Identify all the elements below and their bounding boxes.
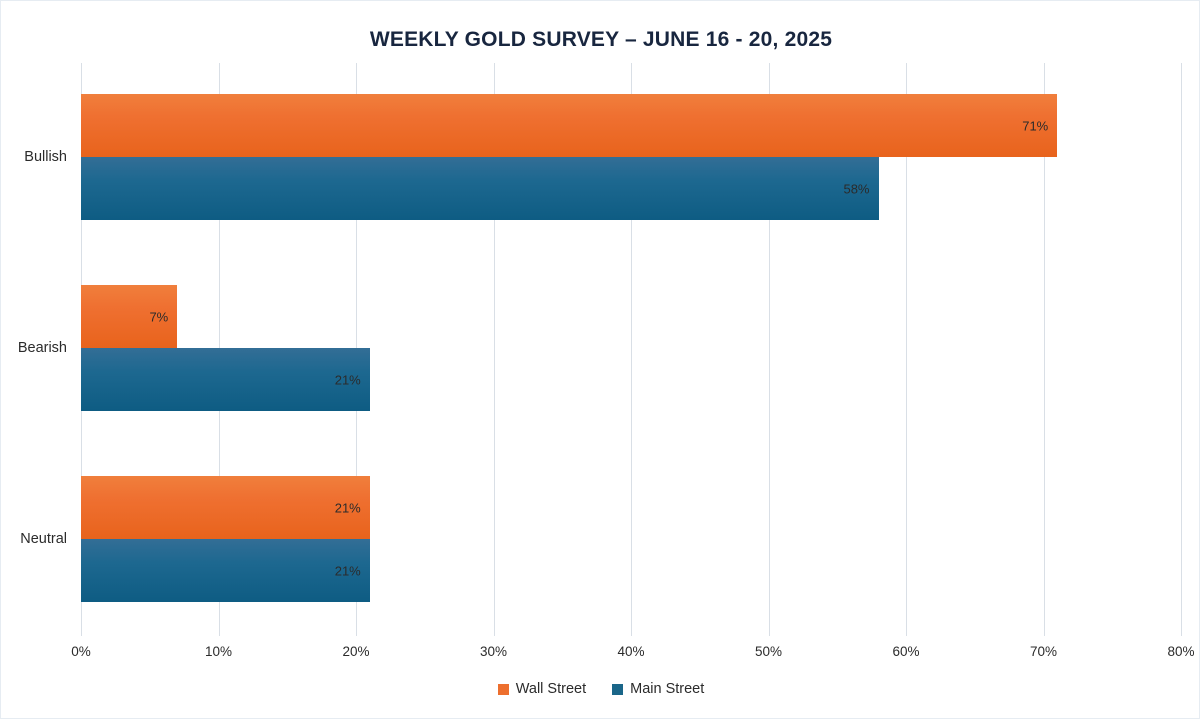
bar-value-label: 71% [1022, 118, 1048, 133]
gridline [1181, 63, 1182, 636]
bar-bearish-main-street[interactable]: 21% [81, 348, 370, 411]
category-label-bearish: Bearish [18, 340, 67, 356]
bar-value-label: 58% [843, 181, 869, 196]
legend-label: Wall Street [516, 681, 586, 697]
chart-legend: Wall StreetMain Street [1, 681, 1200, 697]
category-label-neutral: Neutral [20, 531, 67, 547]
x-axis-tick-label: 50% [755, 644, 782, 659]
x-axis-tick-label: 70% [1030, 644, 1057, 659]
bar-bullish-wall-street[interactable]: 71% [81, 94, 1057, 157]
legend-label: Main Street [630, 681, 704, 697]
bar-group: 21%21% [81, 476, 1181, 602]
x-axis-tick-label: 0% [71, 644, 91, 659]
legend-swatch-icon [612, 684, 623, 695]
bar-group: 7%21% [81, 285, 1181, 411]
bar-group: 71%58% [81, 94, 1181, 220]
x-axis-tick-label: 60% [892, 644, 919, 659]
bar-bullish-main-street[interactable]: 58% [81, 157, 879, 220]
legend-item-main-street[interactable]: Main Street [612, 681, 704, 697]
category-label-bullish: Bullish [24, 149, 67, 165]
legend-swatch-icon [498, 684, 509, 695]
category-axis: BullishBearishNeutral [1, 63, 81, 636]
x-axis-tick-label: 80% [1167, 644, 1194, 659]
x-axis-tick-label: 10% [205, 644, 232, 659]
plot-area: 71%58%7%21%21%21% [81, 63, 1181, 636]
value-axis: 0%10%20%30%40%50%60%70%80% [81, 644, 1181, 666]
x-axis-tick-label: 30% [480, 644, 507, 659]
chart-container: WEEKLY GOLD SURVEY – JUNE 16 - 20, 2025 … [0, 0, 1200, 719]
bar-value-label: 7% [149, 309, 168, 324]
bar-value-label: 21% [335, 500, 361, 515]
x-axis-tick-label: 20% [342, 644, 369, 659]
bar-neutral-wall-street[interactable]: 21% [81, 476, 370, 539]
bar-value-label: 21% [335, 563, 361, 578]
bar-value-label: 21% [335, 372, 361, 387]
bar-bearish-wall-street[interactable]: 7% [81, 285, 177, 348]
x-axis-tick-label: 40% [617, 644, 644, 659]
legend-item-wall-street[interactable]: Wall Street [498, 681, 586, 697]
bar-neutral-main-street[interactable]: 21% [81, 539, 370, 602]
chart-title: WEEKLY GOLD SURVEY – JUNE 16 - 20, 2025 [1, 28, 1200, 52]
